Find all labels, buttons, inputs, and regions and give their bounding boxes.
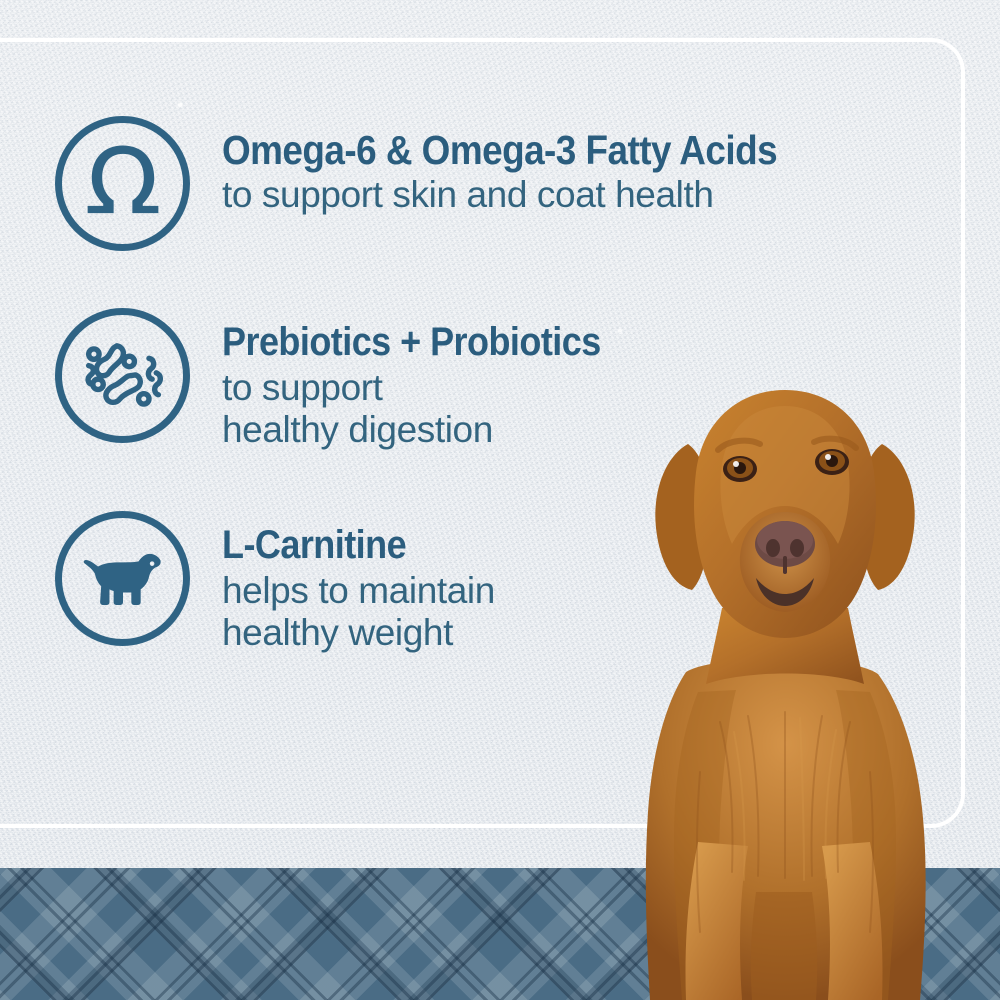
feature-title: Omega-6 & Omega-3 Fatty Acids — [222, 130, 777, 172]
poster-canvas: Omega-6 & Omega-3 Fatty Acids to support… — [0, 0, 1000, 1000]
probiotics-bacteria-icon — [55, 308, 190, 443]
omega-icon — [55, 116, 190, 251]
feature-item-probiotics: Prebiotics + Probiotics to support healt… — [55, 308, 643, 451]
feature-text-l-carnitine: L-Carnitine helps to maintain healthy we… — [222, 511, 495, 654]
feature-subtitle: to support skin and coat health — [222, 174, 839, 216]
feature-title: Prebiotics + Probiotics — [222, 322, 601, 363]
feature-item-omega: Omega-6 & Omega-3 Fatty Acids to support… — [55, 116, 839, 251]
feature-subtitle: helps to maintain healthy weight — [222, 570, 495, 654]
dog-silhouette-icon — [55, 511, 190, 646]
feature-title: L-Carnitine — [222, 525, 468, 566]
feature-item-l-carnitine: L-Carnitine helps to maintain healthy we… — [55, 511, 495, 654]
feature-text-omega: Omega-6 & Omega-3 Fatty Acids to support… — [222, 116, 839, 216]
dog-photo — [570, 372, 1000, 1000]
